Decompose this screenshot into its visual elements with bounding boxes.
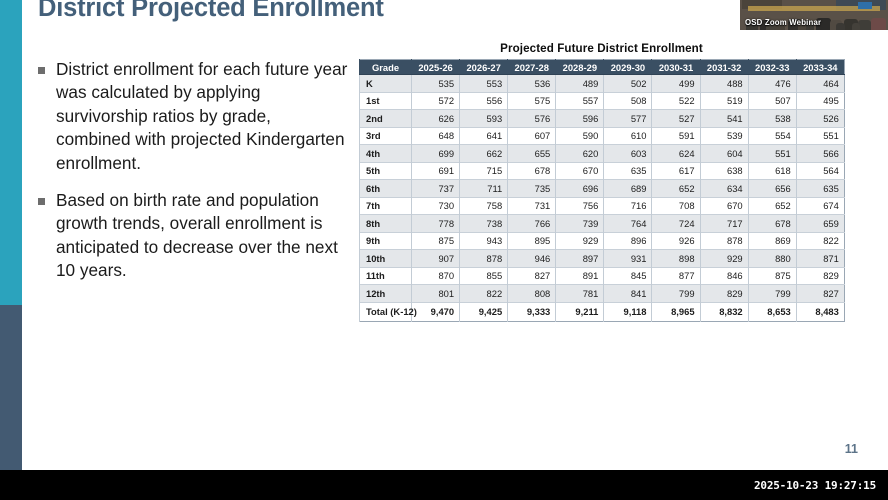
value-cell: 624 bbox=[652, 145, 700, 163]
value-cell: 829 bbox=[796, 267, 844, 285]
value-cell: 880 bbox=[748, 250, 796, 268]
list-item: District enrollment for each future year… bbox=[38, 58, 350, 175]
value-cell: 648 bbox=[412, 127, 460, 145]
value-cell: 538 bbox=[748, 110, 796, 128]
grade-cell: 4th bbox=[360, 145, 412, 163]
value-cell: 617 bbox=[652, 162, 700, 180]
value-cell: 591 bbox=[652, 127, 700, 145]
value-cell: 731 bbox=[508, 197, 556, 215]
value-cell: 738 bbox=[460, 215, 508, 233]
bullet-text: District enrollment for each future year… bbox=[56, 58, 350, 175]
value-cell: 827 bbox=[508, 267, 556, 285]
audience-person bbox=[836, 23, 845, 30]
value-cell: 626 bbox=[412, 110, 460, 128]
value-cell: 799 bbox=[748, 285, 796, 303]
value-cell: 539 bbox=[700, 127, 748, 145]
value-cell: 875 bbox=[412, 232, 460, 250]
page-number: 11 bbox=[845, 442, 858, 456]
grade-cell: 8th bbox=[360, 215, 412, 233]
grade-cell: 2nd bbox=[360, 110, 412, 128]
value-cell: 527 bbox=[652, 110, 700, 128]
value-cell: 855 bbox=[460, 267, 508, 285]
total-value-cell: 8,965 bbox=[652, 302, 700, 321]
grade-cell: 1st bbox=[360, 92, 412, 110]
value-cell: 871 bbox=[796, 250, 844, 268]
value-cell: 717 bbox=[700, 215, 748, 233]
table-row: 10th907878946897931898929880871 bbox=[360, 250, 845, 268]
value-cell: 652 bbox=[748, 197, 796, 215]
value-cell: 875 bbox=[748, 267, 796, 285]
value-cell: 778 bbox=[412, 215, 460, 233]
value-cell: 846 bbox=[700, 267, 748, 285]
column-header-2028-29: 2028-29 bbox=[556, 60, 604, 75]
value-cell: 898 bbox=[652, 250, 700, 268]
value-cell: 576 bbox=[508, 110, 556, 128]
value-cell: 596 bbox=[556, 110, 604, 128]
total-label-cell: Total (K-12) bbox=[360, 302, 412, 321]
value-cell: 895 bbox=[508, 232, 556, 250]
value-cell: 662 bbox=[460, 145, 508, 163]
value-cell: 526 bbox=[796, 110, 844, 128]
value-cell: 711 bbox=[460, 180, 508, 198]
column-header-2033-34: 2033-34 bbox=[796, 60, 844, 75]
value-cell: 635 bbox=[604, 162, 652, 180]
value-cell: 877 bbox=[652, 267, 700, 285]
value-cell: 620 bbox=[556, 145, 604, 163]
value-cell: 829 bbox=[700, 285, 748, 303]
value-cell: 946 bbox=[508, 250, 556, 268]
table-row: K535553536489502499488476464 bbox=[360, 75, 845, 93]
value-cell: 488 bbox=[700, 75, 748, 93]
value-cell: 638 bbox=[700, 162, 748, 180]
enrollment-table-block: Projected Future District Enrollment Gra… bbox=[359, 42, 844, 322]
page-title: District Projected Enrollment bbox=[38, 0, 384, 23]
value-cell: 507 bbox=[748, 92, 796, 110]
value-cell: 758 bbox=[460, 197, 508, 215]
value-cell: 674 bbox=[796, 197, 844, 215]
value-cell: 756 bbox=[556, 197, 604, 215]
table-total-row: Total (K-12)9,4709,4259,3339,2119,1188,9… bbox=[360, 302, 845, 321]
value-cell: 553 bbox=[460, 75, 508, 93]
value-cell: 878 bbox=[700, 232, 748, 250]
value-cell: 541 bbox=[700, 110, 748, 128]
value-cell: 536 bbox=[508, 75, 556, 93]
column-header-2031-32: 2031-32 bbox=[700, 60, 748, 75]
table-row: 2nd626593576596577527541538526 bbox=[360, 110, 845, 128]
value-cell: 781 bbox=[556, 285, 604, 303]
total-value-cell: 8,832 bbox=[700, 302, 748, 321]
value-cell: 656 bbox=[748, 180, 796, 198]
grade-cell: 12th bbox=[360, 285, 412, 303]
value-cell: 689 bbox=[604, 180, 652, 198]
value-cell: 764 bbox=[604, 215, 652, 233]
value-cell: 635 bbox=[796, 180, 844, 198]
value-cell: 572 bbox=[412, 92, 460, 110]
table-row: 1st572556575557508522519507495 bbox=[360, 92, 845, 110]
value-cell: 929 bbox=[556, 232, 604, 250]
value-cell: 655 bbox=[508, 145, 556, 163]
total-value-cell: 9,333 bbox=[508, 302, 556, 321]
value-cell: 489 bbox=[556, 75, 604, 93]
value-cell: 556 bbox=[460, 92, 508, 110]
value-cell: 691 bbox=[412, 162, 460, 180]
value-cell: 670 bbox=[556, 162, 604, 180]
value-cell: 730 bbox=[412, 197, 460, 215]
total-value-cell: 9,470 bbox=[412, 302, 460, 321]
value-cell: 943 bbox=[460, 232, 508, 250]
value-cell: 535 bbox=[412, 75, 460, 93]
list-item: Based on birth rate and population growt… bbox=[38, 189, 350, 283]
value-cell: 870 bbox=[412, 267, 460, 285]
grade-cell: 10th bbox=[360, 250, 412, 268]
value-cell: 766 bbox=[508, 215, 556, 233]
audience-person bbox=[871, 18, 886, 30]
value-cell: 897 bbox=[556, 250, 604, 268]
value-cell: 724 bbox=[652, 215, 700, 233]
column-header-2032-33: 2032-33 bbox=[748, 60, 796, 75]
value-cell: 827 bbox=[796, 285, 844, 303]
value-cell: 554 bbox=[748, 127, 796, 145]
value-cell: 603 bbox=[604, 145, 652, 163]
column-header-grade: Grade bbox=[360, 60, 412, 75]
value-cell: 495 bbox=[796, 92, 844, 110]
value-cell: 634 bbox=[700, 180, 748, 198]
value-cell: 869 bbox=[748, 232, 796, 250]
value-cell: 659 bbox=[796, 215, 844, 233]
presentation-screen: District Projected Enrollment District e… bbox=[0, 0, 888, 500]
column-header-2030-31: 2030-31 bbox=[652, 60, 700, 75]
table-row: 11th870855827891845877846875829 bbox=[360, 267, 845, 285]
value-cell: 678 bbox=[508, 162, 556, 180]
value-cell: 508 bbox=[604, 92, 652, 110]
value-cell: 699 bbox=[412, 145, 460, 163]
value-cell: 575 bbox=[508, 92, 556, 110]
table-row: 12th801822808781841799829799827 bbox=[360, 285, 845, 303]
accent-bar-slate bbox=[0, 305, 22, 470]
value-cell: 577 bbox=[604, 110, 652, 128]
value-cell: 464 bbox=[796, 75, 844, 93]
grade-cell: 3rd bbox=[360, 127, 412, 145]
value-cell: 737 bbox=[412, 180, 460, 198]
table-row: 4th699662655620603624604551566 bbox=[360, 145, 845, 163]
total-value-cell: 9,211 bbox=[556, 302, 604, 321]
value-cell: 716 bbox=[604, 197, 652, 215]
value-cell: 822 bbox=[460, 285, 508, 303]
value-cell: 715 bbox=[460, 162, 508, 180]
value-cell: 735 bbox=[508, 180, 556, 198]
table-row: 5th691715678670635617638618564 bbox=[360, 162, 845, 180]
webcam-label: OSD Zoom Webinar bbox=[745, 18, 821, 27]
value-cell: 708 bbox=[652, 197, 700, 215]
value-cell: 590 bbox=[556, 127, 604, 145]
value-cell: 739 bbox=[556, 215, 604, 233]
value-cell: 566 bbox=[796, 145, 844, 163]
value-cell: 801 bbox=[412, 285, 460, 303]
square-bullet-icon bbox=[38, 67, 45, 74]
value-cell: 551 bbox=[748, 145, 796, 163]
total-value-cell: 9,425 bbox=[460, 302, 508, 321]
value-cell: 907 bbox=[412, 250, 460, 268]
table-row: 6th737711735696689652634656635 bbox=[360, 180, 845, 198]
column-header-2026-27: 2026-27 bbox=[460, 60, 508, 75]
square-bullet-icon bbox=[38, 198, 45, 205]
accent-bar-teal bbox=[0, 0, 22, 305]
value-cell: 808 bbox=[508, 285, 556, 303]
total-value-cell: 9,118 bbox=[604, 302, 652, 321]
bullet-list: District enrollment for each future year… bbox=[38, 58, 350, 297]
table-row: 7th730758731756716708670652674 bbox=[360, 197, 845, 215]
column-header-2029-30: 2029-30 bbox=[604, 60, 652, 75]
value-cell: 610 bbox=[604, 127, 652, 145]
grade-cell: K bbox=[360, 75, 412, 93]
value-cell: 551 bbox=[796, 127, 844, 145]
value-cell: 607 bbox=[508, 127, 556, 145]
grade-cell: 11th bbox=[360, 267, 412, 285]
value-cell: 822 bbox=[796, 232, 844, 250]
table-row: 3rd648641607590610591539554551 bbox=[360, 127, 845, 145]
grade-cell: 9th bbox=[360, 232, 412, 250]
room-display-screen bbox=[858, 2, 872, 9]
value-cell: 618 bbox=[748, 162, 796, 180]
value-cell: 891 bbox=[556, 267, 604, 285]
value-cell: 652 bbox=[652, 180, 700, 198]
table-row: 8th778738766739764724717678659 bbox=[360, 215, 845, 233]
value-cell: 670 bbox=[700, 197, 748, 215]
value-cell: 502 bbox=[604, 75, 652, 93]
value-cell: 878 bbox=[460, 250, 508, 268]
value-cell: 841 bbox=[604, 285, 652, 303]
column-header-2025-26: 2025-26 bbox=[412, 60, 460, 75]
value-cell: 522 bbox=[652, 92, 700, 110]
value-cell: 896 bbox=[604, 232, 652, 250]
value-cell: 931 bbox=[604, 250, 652, 268]
value-cell: 593 bbox=[460, 110, 508, 128]
grade-cell: 6th bbox=[360, 180, 412, 198]
value-cell: 564 bbox=[796, 162, 844, 180]
value-cell: 678 bbox=[748, 215, 796, 233]
value-cell: 604 bbox=[700, 145, 748, 163]
total-value-cell: 8,483 bbox=[796, 302, 844, 321]
value-cell: 476 bbox=[748, 75, 796, 93]
value-cell: 845 bbox=[604, 267, 652, 285]
slide-canvas: District Projected Enrollment District e… bbox=[0, 0, 888, 470]
value-cell: 557 bbox=[556, 92, 604, 110]
value-cell: 519 bbox=[700, 92, 748, 110]
value-cell: 696 bbox=[556, 180, 604, 198]
table-header: Grade2025-262026-272027-282028-292029-30… bbox=[360, 60, 845, 75]
value-cell: 799 bbox=[652, 285, 700, 303]
bullet-text: Based on birth rate and population growt… bbox=[56, 189, 350, 283]
table-body: K5355535364895024994884764641st572556575… bbox=[360, 75, 845, 322]
total-value-cell: 8,653 bbox=[748, 302, 796, 321]
value-cell: 929 bbox=[700, 250, 748, 268]
grade-cell: 7th bbox=[360, 197, 412, 215]
column-header-2027-28: 2027-28 bbox=[508, 60, 556, 75]
value-cell: 641 bbox=[460, 127, 508, 145]
table-header-row: Grade2025-262026-272027-282028-292029-30… bbox=[360, 60, 845, 75]
table-title: Projected Future District Enrollment bbox=[359, 42, 844, 55]
table-row: 9th875943895929896926878869822 bbox=[360, 232, 845, 250]
grade-cell: 5th bbox=[360, 162, 412, 180]
enrollment-table: Grade2025-262026-272027-282028-292029-30… bbox=[359, 59, 845, 322]
audience-person bbox=[852, 23, 860, 30]
value-cell: 499 bbox=[652, 75, 700, 93]
timestamp: 2025-10-23 19:27:15 bbox=[754, 479, 876, 492]
webcam-thumbnail[interactable]: OSD Zoom Webinar bbox=[740, 0, 888, 30]
value-cell: 926 bbox=[652, 232, 700, 250]
status-bar: 2025-10-23 19:27:15 bbox=[0, 470, 888, 500]
